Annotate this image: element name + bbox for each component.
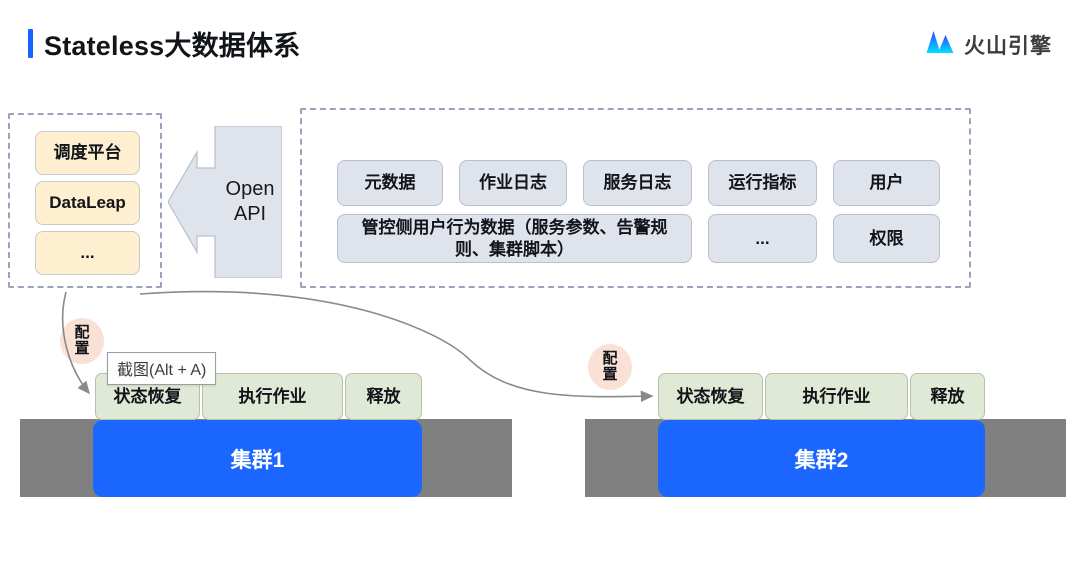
cluster-core-1[interactable]: 集群1: [93, 420, 422, 497]
data-chip-runtime-metrics[interactable]: 运行指标: [708, 160, 817, 206]
cluster2-stage-run-job[interactable]: 执行作业: [765, 373, 908, 420]
data-chip-label: 权限: [870, 228, 904, 249]
cluster1-stage-release[interactable]: 释放: [345, 373, 422, 420]
platform-chip-label: ...: [80, 242, 94, 263]
cluster-core-2[interactable]: 集群2: [658, 420, 985, 497]
data-chip-label: 管控侧用户行为数据（服务参数、告警规则、集群脚本）: [348, 217, 681, 260]
cluster-core-label: 集群2: [795, 444, 849, 474]
title-label: Stateless大数据体系: [44, 24, 300, 63]
cluster2-stage-state-recovery[interactable]: 状态恢复: [658, 373, 763, 420]
stage-label: 状态恢复: [114, 386, 182, 407]
data-chip-label: 运行指标: [729, 172, 797, 193]
data-chip-label: 用户: [870, 172, 904, 193]
config-badge-char2: 置: [74, 341, 89, 357]
platform-chip-dataleap[interactable]: DataLeap: [35, 181, 140, 225]
volcano-mountain-icon: [925, 29, 955, 60]
slide-canvas: Stateless大数据体系 火山引擎 调度平台 DataLeap ...: [0, 0, 1080, 569]
platform-chip-more[interactable]: ...: [35, 231, 140, 275]
data-chip-label: 服务日志: [604, 172, 672, 193]
config-badge-char1: 配: [602, 351, 617, 367]
cluster2-stage-release[interactable]: 释放: [910, 373, 985, 420]
stage-label: 释放: [931, 386, 965, 407]
config-badge-cluster1: 配 置: [60, 318, 104, 364]
config-badge-char2: 置: [602, 367, 617, 383]
data-chip-service-log[interactable]: 服务日志: [583, 160, 692, 206]
stage-label: 执行作业: [239, 386, 307, 407]
config-badge-char1: 配: [74, 325, 89, 341]
open-api-block[interactable]: Open API: [168, 126, 282, 278]
config-badge-cluster2: 配 置: [588, 344, 632, 390]
brand-name: 火山引擎: [964, 30, 1052, 60]
data-chip-permission[interactable]: 权限: [833, 214, 940, 263]
data-chip-job-log[interactable]: 作业日志: [459, 160, 567, 206]
cluster1-stage-run-job[interactable]: 执行作业: [202, 373, 343, 420]
data-chip-more[interactable]: ...: [708, 214, 817, 263]
data-chip-label: ...: [755, 228, 769, 249]
cluster-core-label: 集群1: [231, 444, 285, 474]
stage-label: 执行作业: [803, 386, 871, 407]
platform-chip-label: 调度平台: [54, 142, 122, 163]
brand-logo: 火山引擎: [925, 29, 1052, 60]
data-chip-label: 元数据: [365, 172, 416, 193]
data-chip-metadata[interactable]: 元数据: [337, 160, 443, 206]
screenshot-tooltip: 截图(Alt + A): [107, 352, 216, 385]
data-chip-control-plane-behavior[interactable]: 管控侧用户行为数据（服务参数、告警规则、集群脚本）: [337, 214, 692, 263]
data-chip-label: 作业日志: [479, 172, 547, 193]
stage-label: 状态恢复: [677, 386, 745, 407]
stage-label: 释放: [367, 386, 401, 407]
platform-chip-scheduler[interactable]: 调度平台: [35, 131, 140, 175]
title-accent-bar: [28, 29, 33, 58]
data-chip-user[interactable]: 用户: [833, 160, 940, 206]
platform-chip-label: DataLeap: [49, 192, 126, 213]
page-title: Stateless大数据体系: [28, 24, 300, 63]
